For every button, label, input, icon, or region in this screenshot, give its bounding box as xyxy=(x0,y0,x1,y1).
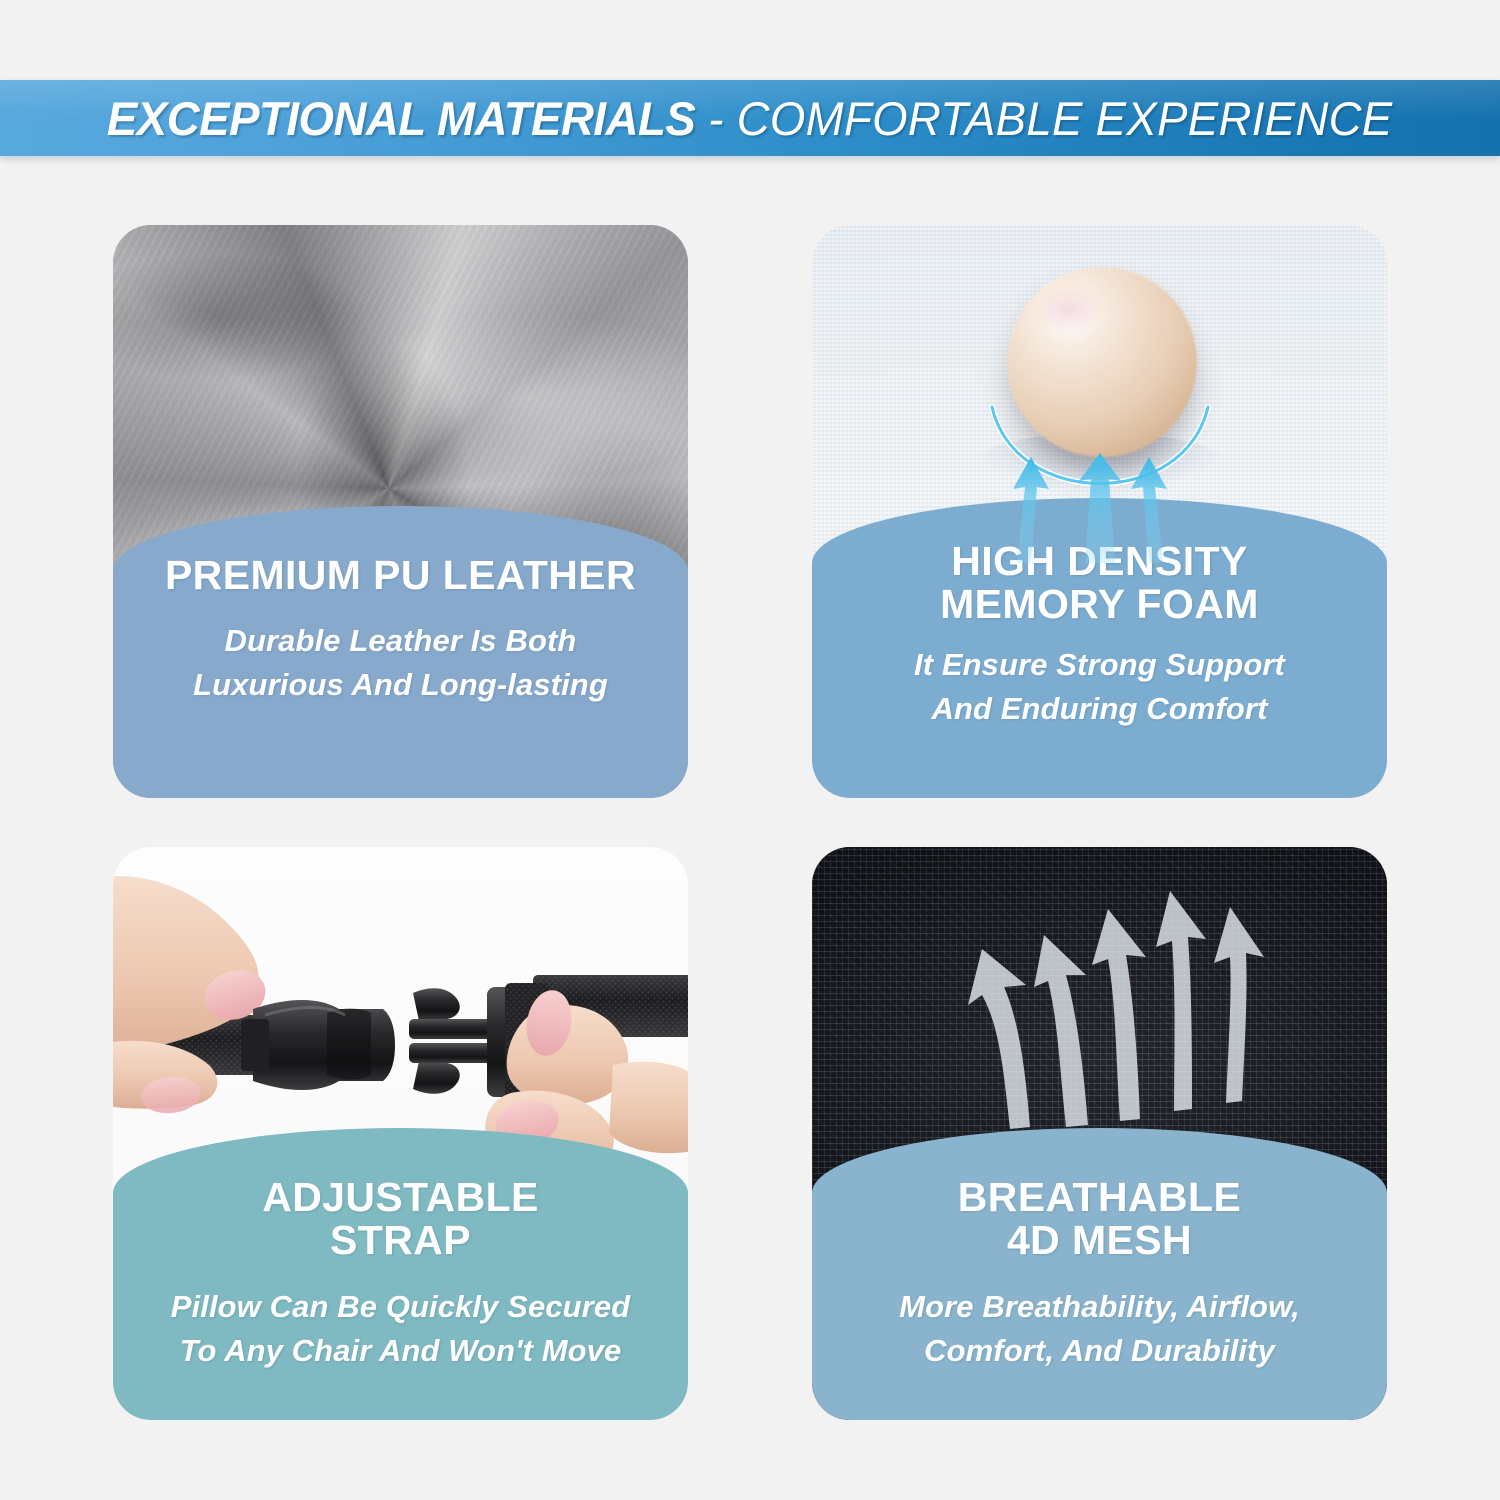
left-hand xyxy=(113,876,272,1116)
feature-card-breathable-4d-mesh[interactable]: BREATHABLE 4D MESH More Breathability, A… xyxy=(812,847,1387,1420)
card-caption-overlay: BREATHABLE 4D MESH More Breathability, A… xyxy=(812,1128,1387,1420)
feature-card-adjustable-strap[interactable]: ADJUSTABLE STRAP Pillow Can Be Quickly S… xyxy=(113,847,688,1420)
card-subtitle: More Breathability, Airflow, Comfort, An… xyxy=(889,1285,1310,1373)
card-title: ADJUSTABLE STRAP xyxy=(250,1176,551,1263)
banner-title-strong: EXCEPTIONAL MATERIALS xyxy=(107,92,695,145)
banner-title-light: - COMFORTABLE EXPERIENCE xyxy=(696,92,1393,145)
breathability-arrows-icon xyxy=(938,877,1268,1137)
feature-card-premium-pu-leather[interactable]: PREMIUM PU LEATHER Durable Leather Is Bo… xyxy=(113,225,688,798)
card-caption-overlay: ADJUSTABLE STRAP Pillow Can Be Quickly S… xyxy=(113,1128,688,1420)
card-subtitle: Pillow Can Be Quickly Secured To Any Cha… xyxy=(161,1285,640,1373)
header-banner: EXCEPTIONAL MATERIALS - COMFORTABLE EXPE… xyxy=(0,80,1500,156)
buckle-male-half xyxy=(241,1000,395,1090)
card-title: BREATHABLE 4D MESH xyxy=(946,1176,1253,1263)
card-subtitle: Durable Leather Is Both Luxurious And Lo… xyxy=(183,619,618,707)
card-title: PREMIUM PU LEATHER xyxy=(153,554,648,597)
feature-grid: PREMIUM PU LEATHER Durable Leather Is Bo… xyxy=(113,225,1387,1420)
upward-airflow-arrows-icon xyxy=(1005,453,1195,563)
card-subtitle: It Ensure Strong Support And Enduring Co… xyxy=(904,643,1295,731)
feature-card-high-density-memory-foam[interactable]: HIGH DENSITY MEMORY FOAM It Ensure Stron… xyxy=(812,225,1387,798)
card-caption-overlay: PREMIUM PU LEATHER Durable Leather Is Bo… xyxy=(113,506,688,798)
banner-title: EXCEPTIONAL MATERIALS - COMFORTABLE EXPE… xyxy=(107,91,1393,146)
